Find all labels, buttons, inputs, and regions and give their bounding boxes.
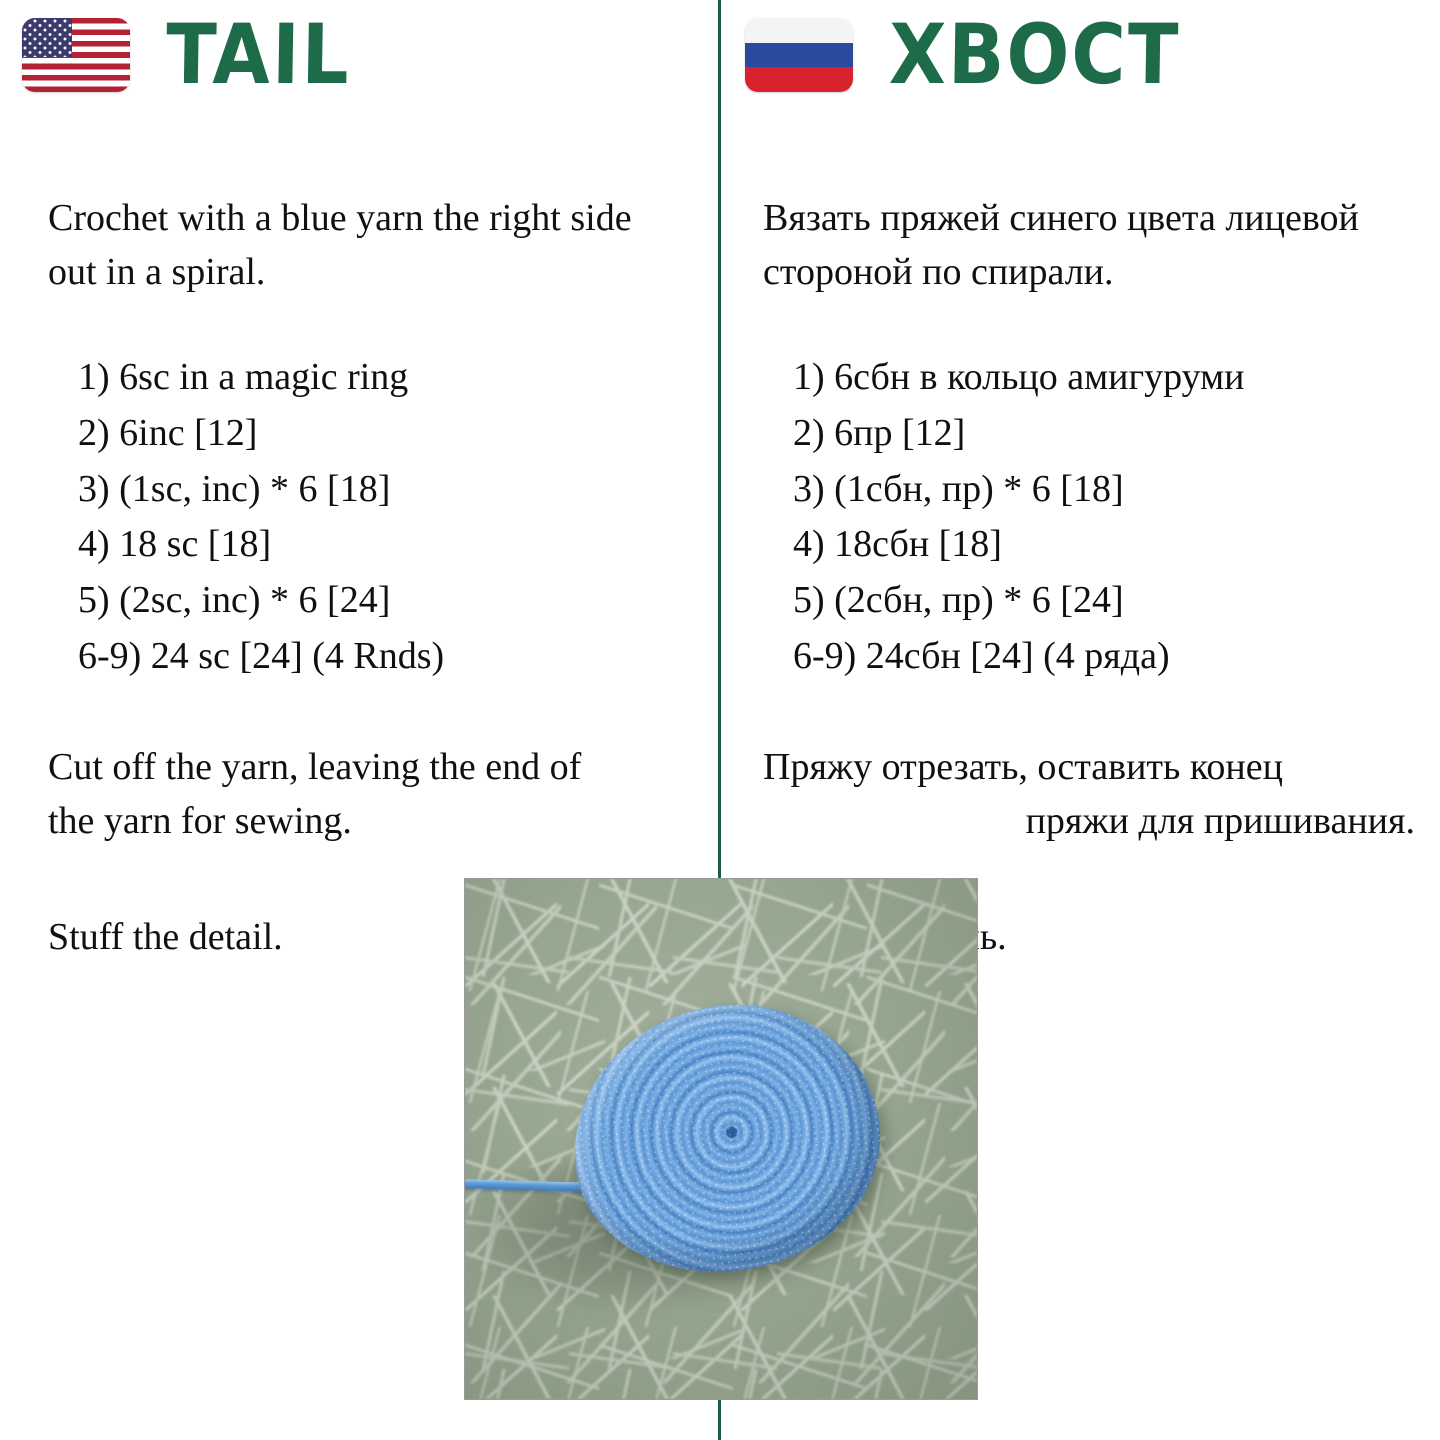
crocheted-tail-photo — [464, 878, 978, 1400]
english-finishing-note-line-2: the yarn for sewing. — [48, 795, 688, 849]
english-body: Crochet with a blue yarn the right side … — [0, 192, 718, 965]
english-header: TAIL — [0, 0, 718, 96]
russian-rounds-list: 1) 6сбн в кольцо амигуруми 2) 6пр [12] 3… — [763, 350, 1415, 685]
english-rounds-list: 1) 6sc in a magic ring 2) 6inc [12] 3) (… — [48, 350, 688, 685]
english-finishing-note: Cut off the yarn, leaving the end of the… — [48, 741, 688, 849]
round-item: 4) 18 sc [18] — [78, 517, 688, 573]
russian-finishing-note-line-2: пряжи для пришивания. — [763, 795, 1415, 849]
round-item: 1) 6sc in a magic ring — [78, 350, 688, 406]
round-item: 6-9) 24 sc [24] (4 Rnds) — [78, 629, 688, 685]
round-item: 5) (2сбн, пр) * 6 [24] — [793, 573, 1415, 629]
round-item: 6-9) 24сбн [24] (4 ряда) — [793, 629, 1415, 685]
round-item: 2) 6пр [12] — [793, 406, 1415, 462]
english-intro: Crochet with a blue yarn the right side … — [48, 192, 688, 300]
round-item: 5) (2sc, inc) * 6 [24] — [78, 573, 688, 629]
english-intro-text: Crochet with a blue yarn the right side … — [48, 192, 688, 300]
us-flag-stars — [22, 18, 72, 57]
english-page-title: TAIL — [165, 14, 351, 97]
round-item: 3) (1sc, inc) * 6 [18] — [78, 462, 688, 518]
ru-flag-icon — [745, 18, 853, 92]
russian-header: ХВОСТ — [721, 0, 1439, 96]
russian-intro: Вязать пряжей синего цвета лицевой сторо… — [763, 192, 1415, 300]
russian-page-title: ХВОСТ — [888, 14, 1180, 97]
round-item: 2) 6inc [12] — [78, 406, 688, 462]
ru-flag-band-white — [745, 18, 853, 43]
ru-flag-band-red — [745, 67, 853, 92]
round-item: 3) (1сбн, пр) * 6 [18] — [793, 462, 1415, 518]
russian-finishing-note-line-1: Пряжу отрезать, оставить конец — [763, 741, 1415, 795]
russian-finishing-note: Пряжу отрезать, оставить конец пряжи для… — [763, 741, 1415, 849]
english-finishing-note-line-1: Cut off the yarn, leaving the end of — [48, 741, 688, 795]
russian-intro-text: Вязать пряжей синего цвета лицевой сторо… — [763, 192, 1415, 300]
russian-body: Вязать пряжей синего цвета лицевой сторо… — [721, 192, 1439, 965]
round-item: 1) 6сбн в кольцо амигуруми — [793, 350, 1415, 406]
ru-flag-band-blue — [745, 43, 853, 68]
round-item: 4) 18сбн [18] — [793, 517, 1415, 573]
us-flag-icon — [22, 18, 130, 92]
